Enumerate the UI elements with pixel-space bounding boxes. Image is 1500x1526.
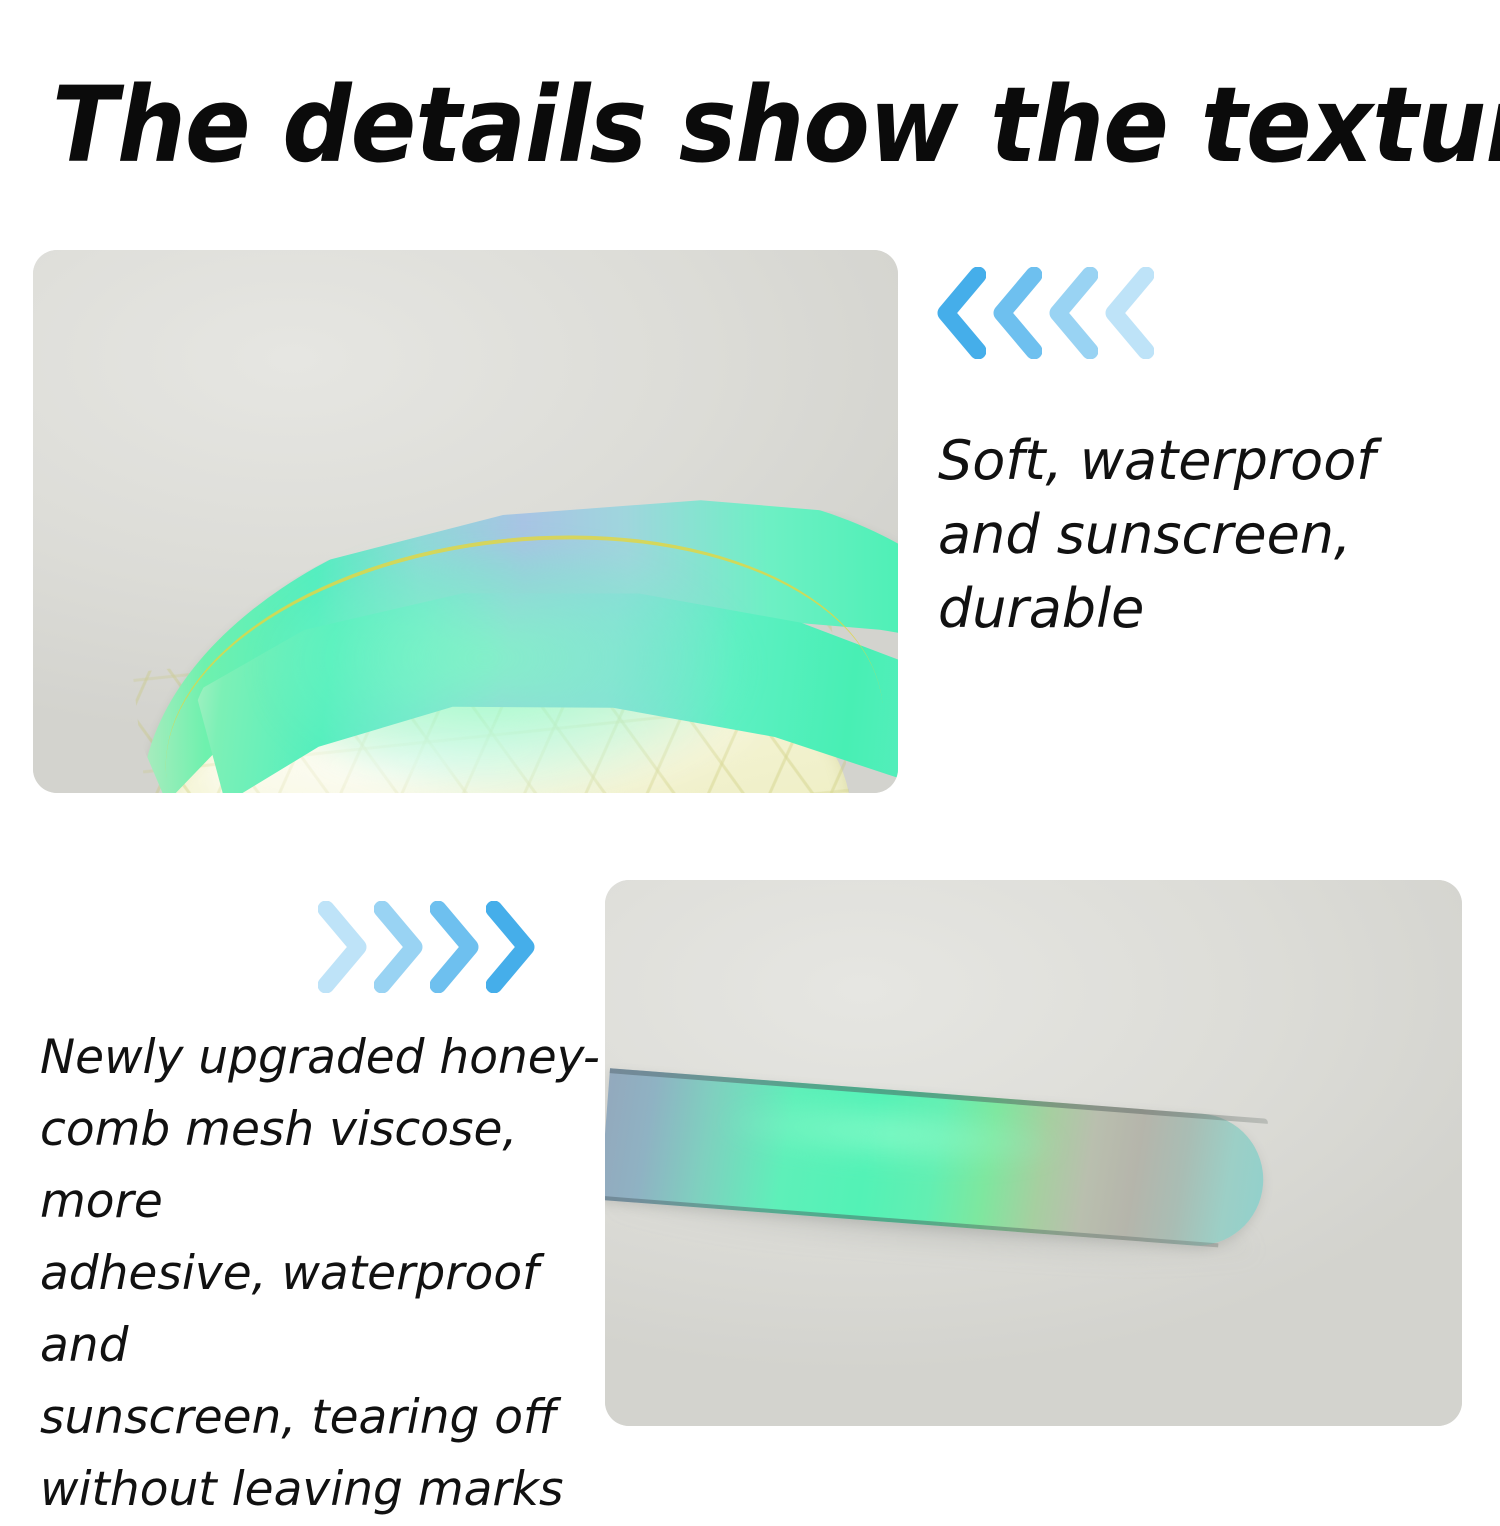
chevron-left-icon: [1100, 267, 1154, 359]
chevron-left-icon: [932, 267, 986, 359]
bottom-caption: Newly upgraded honey- comb mesh viscose,…: [40, 1022, 600, 1526]
chevron-right-icon: [430, 901, 484, 993]
bottom-caption-line-2: comb mesh viscose, more: [40, 1094, 600, 1238]
chevron-left-icon: [1044, 267, 1098, 359]
top-caption-line-3: durable: [938, 572, 1458, 646]
page-title: The details show the texture: [52, 66, 1354, 186]
top-caption: Soft, waterproof and sunscreen, durable: [938, 424, 1458, 646]
bottom-caption-line-1: Newly upgraded honey-: [40, 1022, 600, 1094]
chevron-right-icon: [318, 901, 372, 993]
top-caption-line-2: and sunscreen,: [938, 498, 1458, 572]
bottom-caption-line-4: sunscreen, tearing off: [40, 1382, 600, 1454]
strip-highlight: [724, 1091, 1058, 1176]
holographic-strip-group: [605, 1068, 1305, 1248]
chevrons-pointing-left: [932, 258, 1152, 368]
chevron-right-icon: [374, 901, 428, 993]
bottom-caption-line-3: adhesive, waterproof and: [40, 1238, 600, 1382]
chevron-right-icon: [486, 901, 540, 993]
chevron-left-icon: [988, 267, 1042, 359]
top-caption-line-1: Soft, waterproof: [938, 424, 1458, 498]
bottom-caption-line-5: without leaving marks: [40, 1454, 600, 1526]
infographic-page: The details show the texture: [0, 0, 1500, 1500]
chevrons-pointing-right: [318, 892, 538, 1002]
holographic-strip-flat-photo: [605, 880, 1462, 1426]
holographic-tape-loop-photo: [33, 250, 898, 793]
